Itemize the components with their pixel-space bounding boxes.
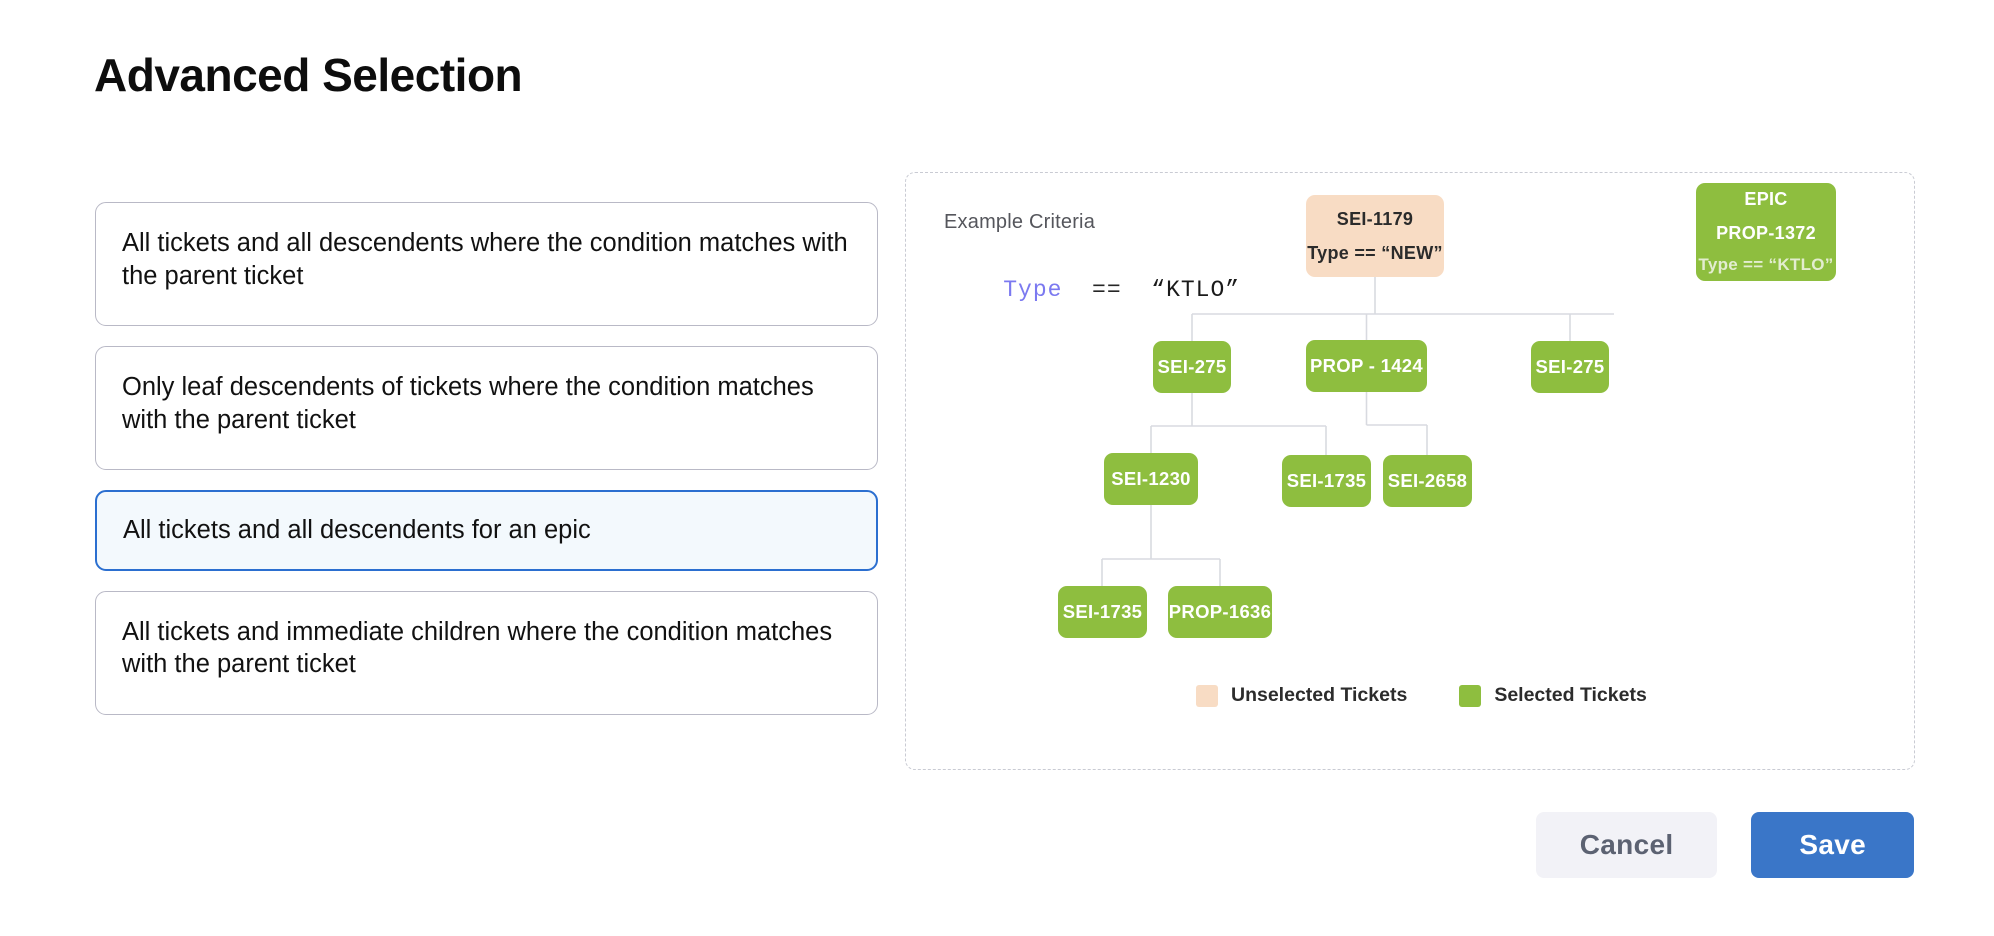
tree-node-primary-label: SEI-2658	[1388, 470, 1468, 492]
tree-node-prop-1636[interactable]: PROP-1636	[1168, 586, 1272, 638]
selection-option-label: Only leaf descendents of tickets where t…	[122, 373, 814, 434]
tree-legend: Unselected TicketsSelected Tickets	[1196, 684, 1647, 707]
tree-node-primary-label: SEI-1179	[1337, 209, 1413, 230]
legend-label: Unselected Tickets	[1231, 684, 1407, 707]
tree-node-epic[interactable]: EPICPROP-1372Type == “KTLO”	[1696, 183, 1836, 281]
selection-option-label: All tickets and immediate children where…	[122, 618, 832, 679]
tree-node-tertiary-label: Type == “KTLO”	[1698, 255, 1833, 275]
tree-node-sei-275-a[interactable]: SEI-275	[1153, 341, 1231, 393]
tree-node-sei-1735-b[interactable]: SEI-1735	[1058, 586, 1147, 638]
tree-node-sei-2658[interactable]: SEI-2658	[1383, 455, 1472, 507]
ticket-hierarchy-tree: SEI-1179Type == “NEW”EPICPROP-1372Type =…	[906, 173, 1914, 769]
tree-node-primary-label: SEI-1230	[1111, 468, 1191, 490]
selection-options-list: All tickets and all descendents where th…	[95, 202, 878, 735]
save-button[interactable]: Save	[1751, 812, 1914, 878]
selection-option-card-0[interactable]: All tickets and all descendents where th…	[95, 202, 878, 326]
tree-node-primary-label: PROP - 1424	[1310, 355, 1423, 377]
selection-option-card-2[interactable]: All tickets and all descendents for an e…	[95, 490, 878, 571]
tree-node-primary-label: SEI-275	[1536, 356, 1605, 378]
cancel-button[interactable]: Cancel	[1536, 812, 1718, 878]
tree-node-primary-label: PROP-1636	[1169, 601, 1271, 623]
selection-option-label: All tickets and all descendents for an e…	[123, 516, 591, 544]
tree-node-primary-label: SEI-1735	[1063, 601, 1143, 623]
tree-node-sei-1179[interactable]: SEI-1179Type == “NEW”	[1306, 195, 1444, 277]
selection-option-card-3[interactable]: All tickets and immediate children where…	[95, 591, 878, 715]
tree-node-secondary-label: PROP-1372	[1716, 223, 1816, 244]
tree-node-primary-label: EPIC	[1744, 189, 1787, 210]
legend-swatch-icon	[1196, 685, 1218, 707]
example-preview-panel: Example Criteria Type == “KTLO”	[905, 172, 1915, 770]
tree-node-sei-1735-a[interactable]: SEI-1735	[1282, 455, 1371, 507]
dialog-footer-actions: Cancel Save	[1536, 812, 1914, 878]
tree-node-sei-1230[interactable]: SEI-1230	[1104, 453, 1198, 505]
legend-item-0: Unselected Tickets	[1196, 684, 1407, 707]
tree-node-primary-label: SEI-275	[1158, 356, 1227, 378]
tree-node-primary-label: SEI-1735	[1287, 470, 1367, 492]
tree-node-secondary-label: Type == “NEW”	[1307, 243, 1443, 264]
page-title: Advanced Selection	[94, 48, 522, 102]
tree-node-sei-275-b[interactable]: SEI-275	[1531, 341, 1609, 393]
legend-label: Selected Tickets	[1494, 684, 1646, 707]
selection-option-card-1[interactable]: Only leaf descendents of tickets where t…	[95, 346, 878, 470]
selection-option-label: All tickets and all descendents where th…	[122, 229, 848, 290]
legend-item-1: Selected Tickets	[1459, 684, 1646, 707]
legend-swatch-icon	[1459, 685, 1481, 707]
tree-node-prop-1424[interactable]: PROP - 1424	[1306, 340, 1427, 392]
